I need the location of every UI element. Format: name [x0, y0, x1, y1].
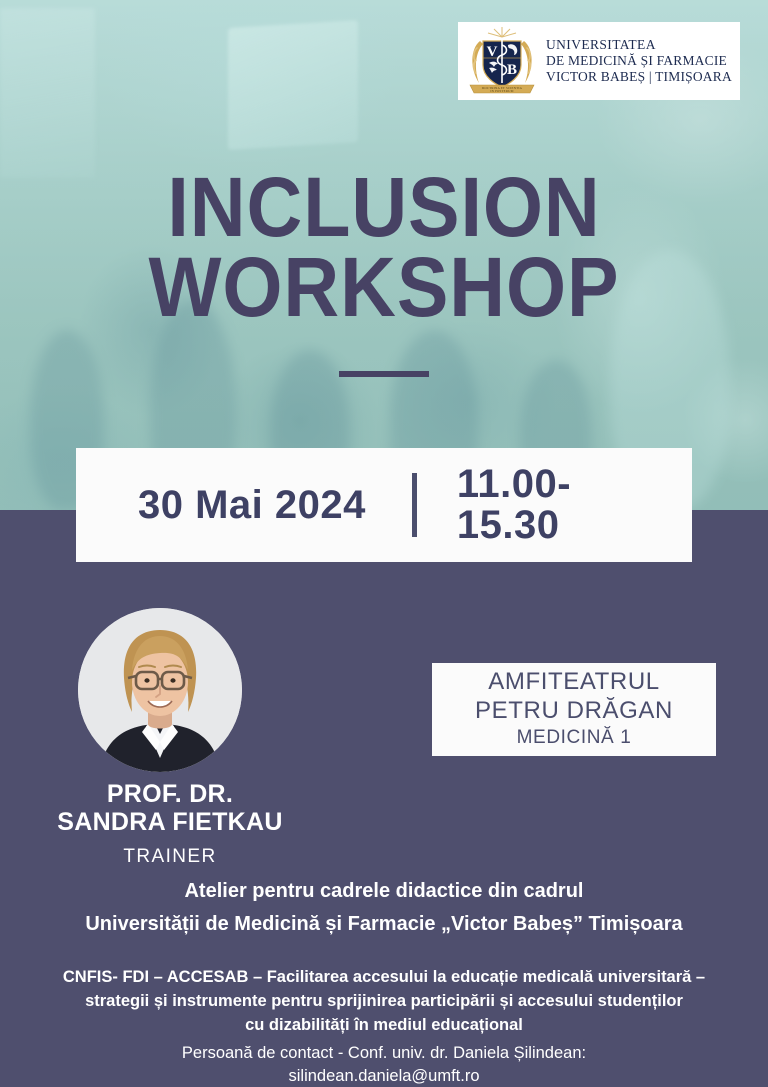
contact-email[interactable]: silindean.daniela@umft.ro: [26, 1065, 742, 1087]
title-underline-rule: [339, 371, 429, 377]
project-line-2: strategii și instrumente pentru sprijini…: [26, 990, 742, 1014]
logo-line-3: VICTOR BABEȘ | TIMIȘOARA: [546, 69, 732, 85]
page-title: INCLUSION WORKSHOP: [31, 168, 738, 328]
svg-text:IN POSTERUM: IN POSTERUM: [490, 89, 513, 93]
title-line-2: WORKSHOP: [31, 248, 738, 328]
date-time-divider: [412, 473, 417, 537]
event-time-line-1: 11.00-: [457, 464, 571, 505]
speaker-block: PROF. DR. SANDRA FIETKAU TRAINER: [0, 780, 340, 868]
date-time-band: 30 Mai 2024 11.00- 15.30: [76, 448, 692, 562]
title-line-1: INCLUSION: [31, 168, 738, 248]
speaker-name: PROF. DR. SANDRA FIETKAU: [0, 780, 340, 836]
logo-line-1: UNIVERSITATEA: [546, 37, 732, 53]
project-description: CNFIS- FDI – ACCESAB – Facilitarea acces…: [26, 966, 742, 1038]
speaker-name-line-1: PROF. DR.: [0, 780, 340, 808]
speaker-portrait-photo: [78, 608, 242, 772]
venue-line-3: MEDICINĂ 1: [517, 726, 632, 751]
description-line-2: Universității de Medicină și Farmacie „V…: [18, 911, 750, 938]
project-line-1: CNFIS- FDI – ACCESAB – Facilitarea acces…: [26, 966, 742, 990]
umft-shield-crest-icon: V B DOCTRINA ET SCIENTIA IN POSTERUM: [464, 25, 540, 97]
university-logo: V B DOCTRINA ET SCIENTIA IN POSTERUM UNI…: [458, 22, 740, 100]
event-time-line-2: 15.30: [457, 505, 571, 546]
contact-info: Persoană de contact - Conf. univ. dr. Da…: [26, 1042, 742, 1087]
speaker-name-line-2: SANDRA FIETKAU: [0, 808, 340, 836]
contact-person: Persoană de contact - Conf. univ. dr. Da…: [26, 1042, 742, 1065]
project-line-3: cu dizabilități în mediul educațional: [26, 1014, 742, 1038]
university-logo-text: UNIVERSITATEA DE MEDICINĂ ȘI FARMACIE VI…: [546, 37, 732, 85]
svg-text:B: B: [507, 62, 517, 78]
event-date: 30 Mai 2024: [138, 483, 366, 528]
speaker-role: TRAINER: [0, 846, 340, 868]
venue-box: AMFITEATRUL PETRU DRĂGAN MEDICINĂ 1: [432, 663, 716, 756]
event-time: 11.00- 15.30: [457, 464, 571, 546]
event-description: Atelier pentru cadrele didactice din cad…: [18, 878, 750, 938]
svg-text:V: V: [487, 44, 498, 60]
poster-root: V B DOCTRINA ET SCIENTIA IN POSTERUM UNI…: [0, 0, 768, 1087]
description-line-1: Atelier pentru cadrele didactice din cad…: [18, 878, 750, 905]
venue-line-1: AMFITEATRUL: [488, 668, 660, 696]
logo-line-2: DE MEDICINĂ ȘI FARMACIE: [546, 53, 732, 69]
venue-line-2: PETRU DRĂGAN: [475, 697, 673, 725]
